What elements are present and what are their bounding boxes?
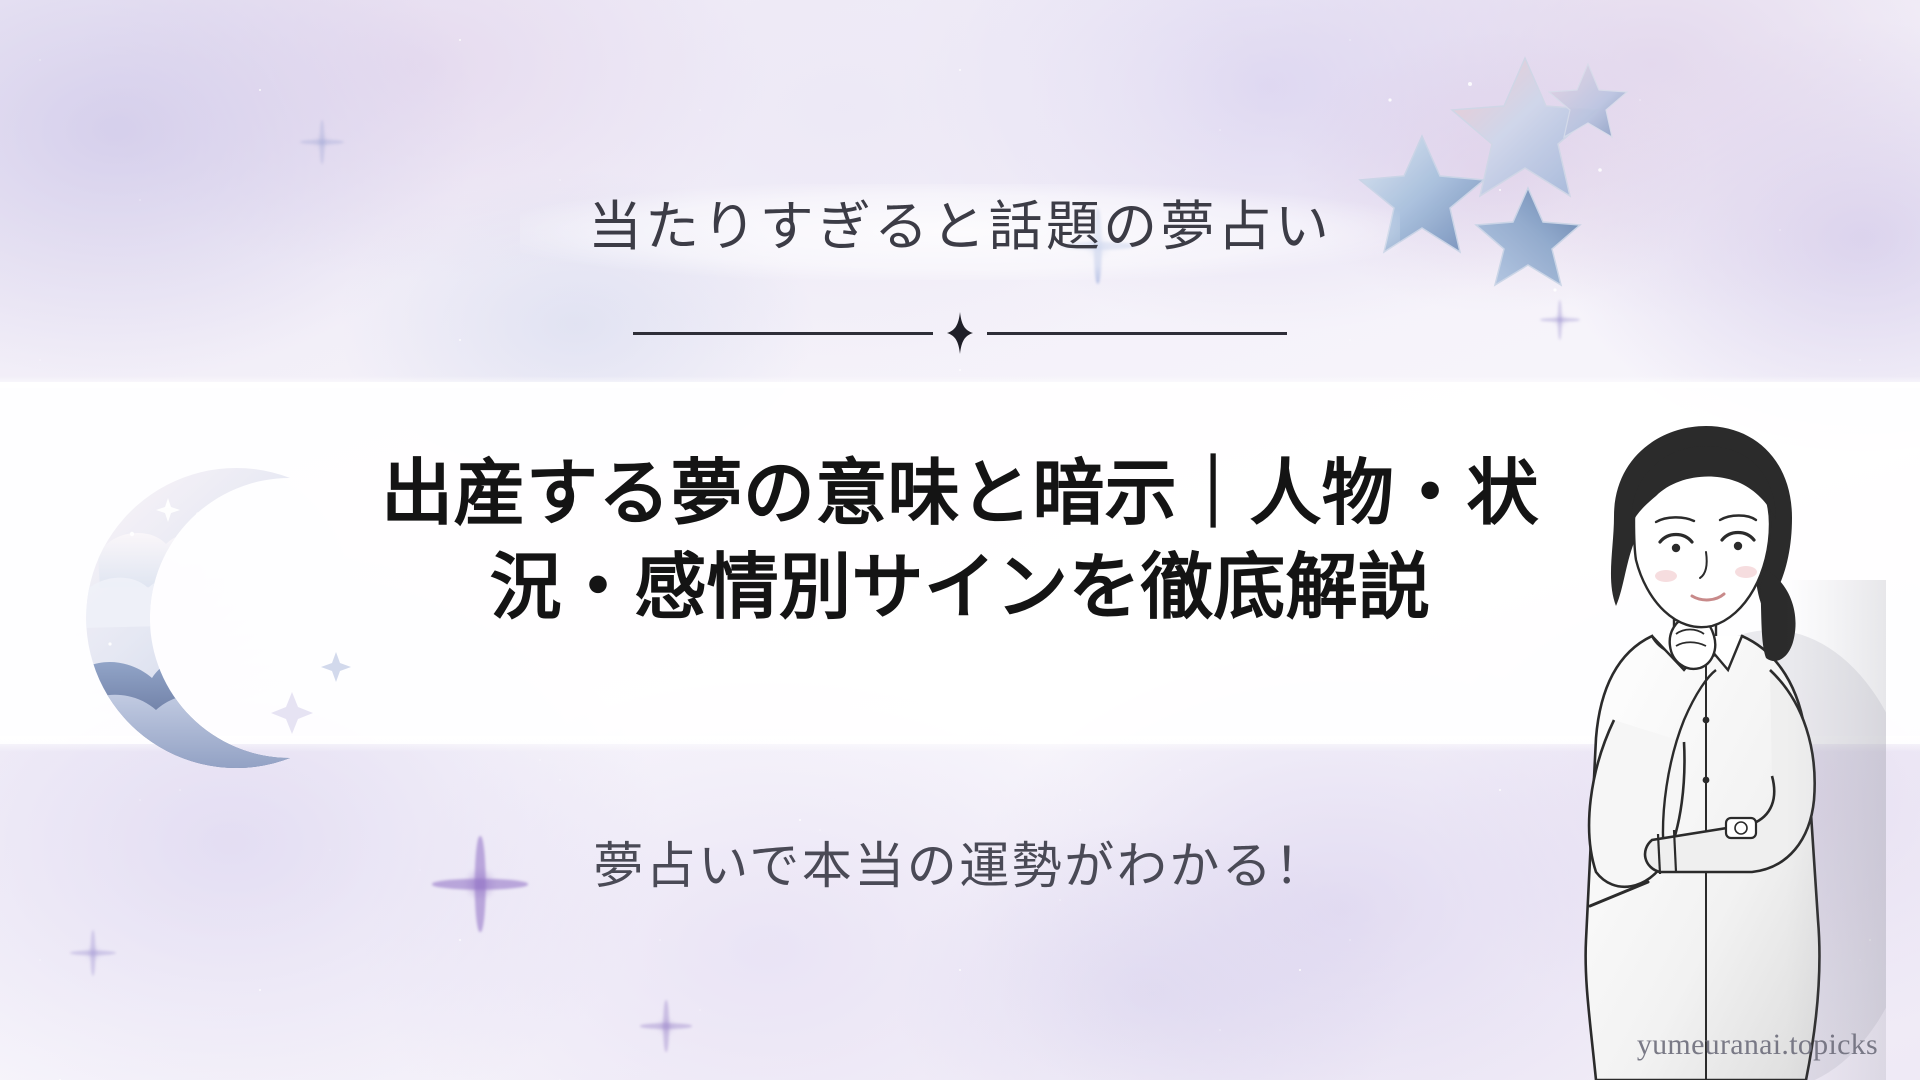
woman-thinking-illustration: [1556, 420, 1886, 1080]
decorative-divider: [633, 312, 1287, 354]
site-watermark: yumeuranai.topicks: [1637, 1028, 1878, 1062]
thumbnail-canvas: 当たりすぎると話題の夢占い 出産する夢の意味と暗示｜人物・状 況・感情別サインを…: [0, 0, 1920, 1080]
divider-rule-right: [987, 332, 1287, 335]
page-title-line-1: 出産する夢の意味と暗示｜人物・状: [240, 448, 1680, 542]
eyebrow-container: 当たりすぎると話題の夢占い: [0, 196, 1920, 258]
four-point-star-icon: [947, 312, 973, 354]
eyebrow-text: 当たりすぎると話題の夢占い: [588, 196, 1332, 258]
watercolor-star-cluster-icon: [1350, 40, 1630, 320]
divider-rule-left: [633, 332, 933, 335]
page-title-line-2: 況・感情別サインを徹底解説: [240, 542, 1680, 636]
